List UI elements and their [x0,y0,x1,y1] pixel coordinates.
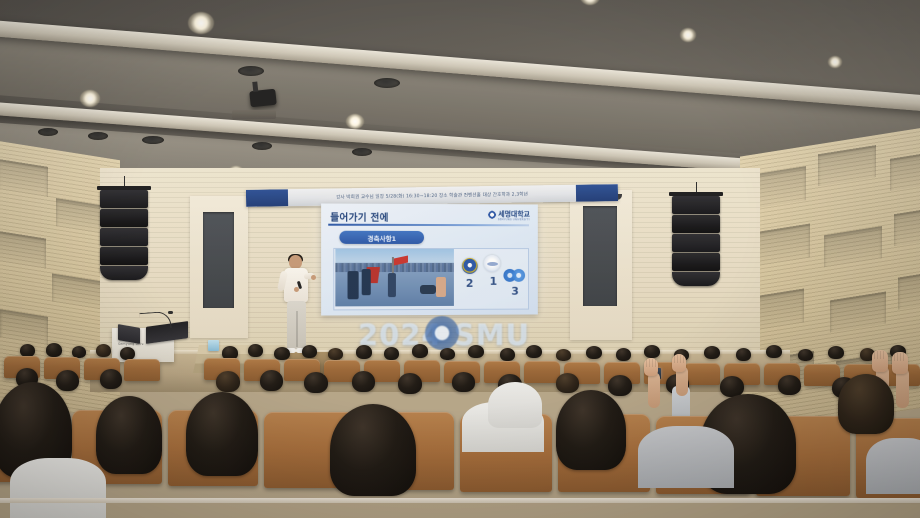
left-line-array-speaker [100,190,148,281]
slide-subtitle-text: 경축사항1 [368,232,397,242]
audience-shoulders [866,438,920,494]
ceiling-spotlight [580,0,600,5]
ceiling-projector [249,89,277,108]
emblem-crest-icon [484,255,501,272]
recessed-downlight [38,128,58,136]
clapping-hand [672,354,686,372]
lecture-hall-photo: 강사 박희권 교수님 일장 5/28(화) 16:30~18:20 장소 학술관… [0,0,920,518]
right-line-array-speaker [672,196,720,287]
recessed-downlight [88,132,108,140]
ceiling-spotlight [80,90,100,107]
clapping-hand [892,352,908,374]
raised-arm [896,368,909,408]
ceiling-spotlight [188,12,214,34]
slide-photo [335,249,454,306]
podium-microphone-head [168,311,173,314]
presenter-right-hand [311,275,316,280]
seat-front-rail [0,498,920,503]
audience-head [330,404,416,496]
ceiling-spotlight [346,114,364,129]
slide-title: 들어가기 전에 [330,210,388,224]
raised-arm [648,372,660,408]
slide-emblems: 2 1 3 [458,249,527,306]
audience-head [186,392,258,476]
audience-head [556,390,626,470]
audience-shoulders [488,382,542,428]
audience-head [96,396,162,474]
audience-head [838,374,894,434]
presenter-head [289,255,302,269]
recessed-downlight [352,148,372,156]
audience-shoulders [638,426,734,488]
audience-shoulders [10,458,106,518]
ceiling-spotlight [828,56,842,68]
projector-mount [232,110,276,119]
projection-screen: 들어가기 전에 세명대학교 SEMYUNG UNIVERSITY 경축사항1 [321,203,538,315]
clapping-hand [872,350,888,372]
slide-subtitle-pill: 경축사항1 [339,231,424,244]
recessed-downlight [374,78,400,88]
university-seal-icon [487,210,496,219]
slide-number-1: 2 [466,277,474,290]
slide-number-2: 1 [490,275,498,288]
emblem-shield-icon [462,258,478,274]
recessed-downlight [142,136,164,144]
recessed-downlight [252,142,272,150]
left-dark-panel [203,212,234,308]
recessed-downlight [238,66,264,76]
slide-divider [328,224,529,226]
audience-seating [0,330,920,518]
ceiling-spotlight [680,28,696,42]
emblem-circle-icon [512,269,525,282]
right-dark-panel [583,206,617,306]
slide-number-3: 3 [511,285,519,298]
university-subname: SEMYUNG UNIVERSITY [498,218,530,221]
banner-text: 강사 박희권 교수님 일장 5/28(화) 16:30~18:20 장소 학술관… [336,191,528,200]
clapping-hand [644,358,658,376]
